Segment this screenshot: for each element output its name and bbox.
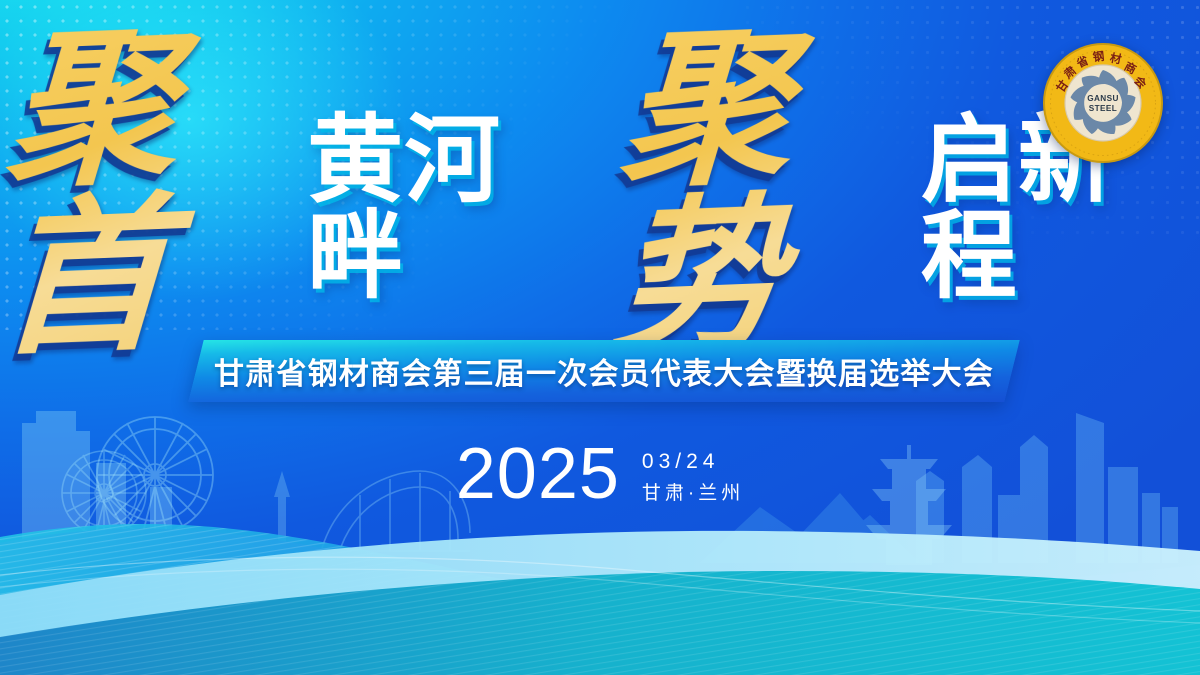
headline-solid-1: 黄河畔 [307, 113, 570, 305]
svg-text:钢: 钢 [1092, 49, 1105, 64]
headline: 聚首 黄河畔 聚势 启新程 [0, 78, 1200, 308]
halftone-dots-left [0, 0, 760, 330]
headline-brush-2: 聚势 [605, 19, 923, 366]
subtitle-text: 甘肃省钢材商会第三届一次会员代表大会暨换届选举大会 [196, 340, 1012, 402]
corner-glow [0, 0, 500, 380]
poster-canvas: 聚首 黄河畔 聚势 启新程 甘肃省钢材商会第三届一次会员代表大会暨换届选举大会 … [0, 0, 1200, 675]
location-label: 甘肃·兰州 [642, 478, 744, 505]
date-block: 2025 03/24 甘肃·兰州 [0, 440, 1200, 508]
month-day-label: 03/24 [642, 450, 744, 474]
gansu-steel-emblem-icon: GANSU STEEL 甘 肃 省 钢 材 商 会 [1041, 41, 1165, 165]
logo-center-line1: GANSU [1087, 94, 1119, 103]
logo-center-line2: STEEL [1089, 104, 1117, 113]
bottom-artwork [0, 375, 1200, 675]
date-details: 03/24 甘肃·兰州 [642, 444, 744, 505]
headline-brush-1: 聚首 [0, 19, 310, 366]
year-label: 2025 [456, 440, 620, 508]
